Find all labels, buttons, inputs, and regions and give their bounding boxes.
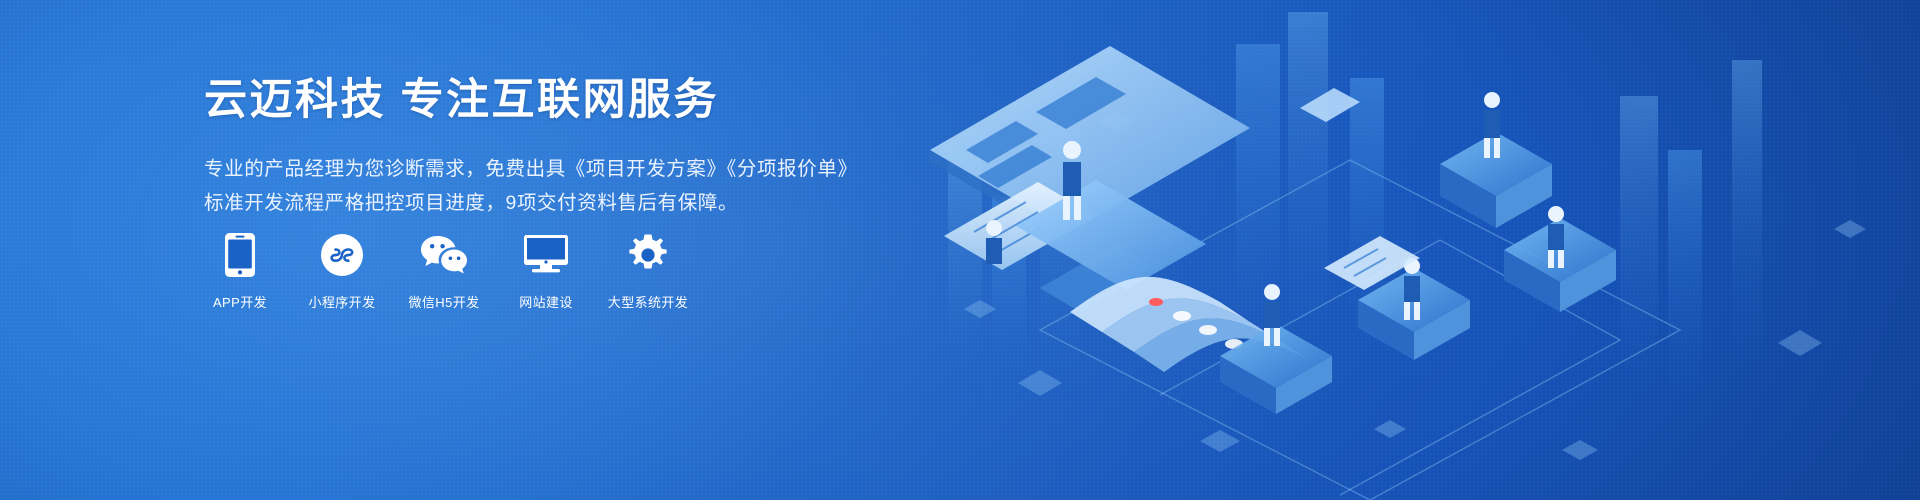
service-item-website[interactable]: 网站建设 xyxy=(510,232,582,311)
service-item-miniprogram[interactable]: 小程序开发 xyxy=(306,232,378,311)
data-ribbon xyxy=(1070,277,1312,372)
background-bars xyxy=(948,12,1762,400)
service-label: 微信H5开发 xyxy=(408,292,479,311)
service-label: 小程序开发 xyxy=(308,292,375,311)
step-blocks xyxy=(1220,132,1616,414)
page-title: 云迈科技 专注互联网服务 xyxy=(204,76,924,124)
hero-banner: 云迈科技 专注互联网服务 专业的产品经理为您诊断需求，免费出具《项目开发方案》《… xyxy=(0,0,1920,500)
ground-grid xyxy=(1040,160,1680,500)
service-list: APP开发 小程序开发 微信 xyxy=(204,232,684,311)
service-label: 大型系统开发 xyxy=(608,292,688,311)
person-standing-main xyxy=(1063,141,1081,220)
service-item-system[interactable]: 大型系统开发 xyxy=(612,232,684,311)
person-front xyxy=(1404,258,1420,320)
person-seated xyxy=(986,220,1002,264)
service-label: APP开发 xyxy=(213,292,267,311)
hero-illustration xyxy=(920,0,1920,500)
person-mid-lower xyxy=(1264,284,1280,346)
floating-diamonds xyxy=(964,112,1866,460)
central-platform xyxy=(1016,180,1206,290)
dashboard-monitor xyxy=(930,46,1250,312)
ribbon-indicators xyxy=(1173,311,1243,349)
hero-subtitle: 专业的产品经理为您诊断需求，免费出具《项目开发方案》《分项报价单》 标准开发流程… xyxy=(204,152,924,220)
people-figures xyxy=(986,92,1564,346)
hero-copy: 云迈科技 专注互联网服务 专业的产品经理为您诊断需求，免费出具《项目开发方案》《… xyxy=(204,76,924,220)
service-item-app[interactable]: APP开发 xyxy=(204,232,276,311)
person-right-lower xyxy=(1548,206,1564,268)
report-sheets xyxy=(944,182,1096,270)
subtitle-line-1: 专业的产品经理为您诊断需求，免费出具《项目开发方案》《分项报价单》 xyxy=(204,152,924,186)
floating-ui-cards xyxy=(1300,88,1420,290)
person-right-upper xyxy=(1484,92,1500,158)
service-label: 网站建设 xyxy=(519,292,573,311)
mini-program-icon xyxy=(321,232,363,278)
subtitle-line-2: 标准开发流程严格把控项目进度，9项交付资料售后有保障。 xyxy=(204,186,924,220)
mobile-phone-icon xyxy=(225,232,255,278)
service-item-wechat-h5[interactable]: 微信H5开发 xyxy=(408,232,480,311)
wechat-icon xyxy=(420,232,468,278)
gear-icon xyxy=(627,232,669,278)
monitor-icon xyxy=(524,232,568,278)
